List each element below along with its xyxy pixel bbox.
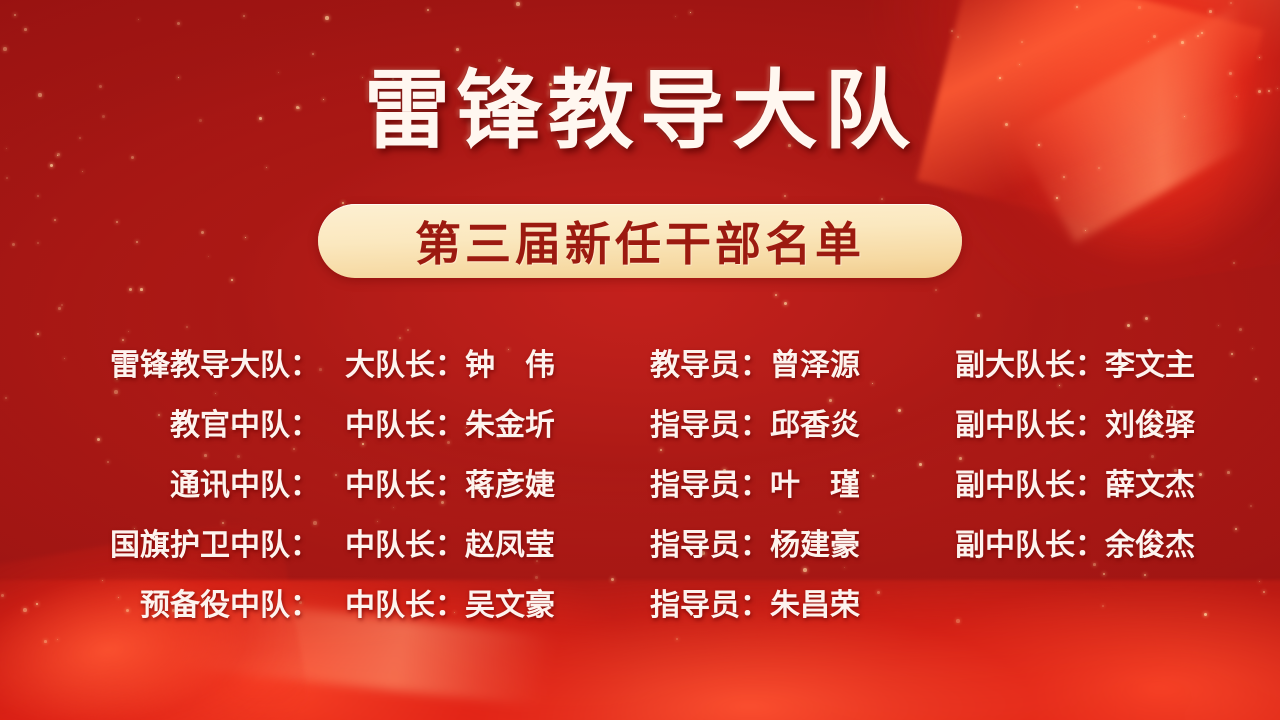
sparkle-dot	[6, 177, 8, 179]
roster-instructor: 指导员：叶 瑾	[645, 460, 950, 504]
sparkle-dot	[1145, 317, 1148, 320]
sparkle-dot	[37, 242, 39, 244]
roster-unit-name: 雷锋教导大队：	[0, 340, 320, 384]
roster-list: 雷锋教导大队：大队长：钟 伟教导员：曾泽源副大队长：李文主教官中队：中队长：朱金…	[0, 332, 1280, 632]
sparkle-dot	[54, 219, 56, 221]
sparkle-dot	[456, 48, 459, 51]
roster-row: 国旗护卫中队：中队长：赵凤莹指导员：杨建豪副中队长：余俊杰	[0, 512, 1280, 572]
subtitle-banner: 第三届新任干部名单	[318, 204, 962, 278]
sparkle-dot	[1127, 324, 1130, 327]
roster-vice-chief: 副中队长：余俊杰	[950, 520, 1275, 564]
roster-chief: 大队长：钟 伟	[320, 340, 645, 384]
sparkle-dot	[3, 47, 7, 51]
sparkle-dot	[136, 241, 138, 243]
roster-row: 教官中队：中队长：朱金圻指导员：邱香炎副中队长：刘俊驿	[0, 392, 1280, 452]
sparkle-dot	[138, 19, 139, 20]
sparkle-dot	[784, 302, 787, 305]
sparkle-dot	[342, 202, 344, 204]
sparkle-dot	[427, 9, 429, 11]
sparkle-dot	[243, 15, 245, 17]
roster-chief: 中队长：赵凤莹	[320, 520, 645, 564]
sparkle-dot	[37, 195, 39, 197]
sparkle-dot	[14, 14, 16, 16]
sparkle-dot	[231, 279, 233, 281]
sparkle-dot	[1218, 325, 1219, 326]
sparkle-dot	[312, 53, 314, 55]
roster-unit-name: 教官中队：	[0, 400, 320, 444]
sparkle-dot	[82, 171, 83, 172]
roster-vice-chief: 副中队长：薛文杰	[950, 460, 1275, 504]
subtitle-text: 第三届新任干部名单	[415, 208, 865, 274]
sparkle-dot	[116, 221, 118, 223]
sparkle-dot	[245, 237, 246, 238]
sparkle-dot	[140, 288, 143, 291]
sparkle-dot	[516, 2, 520, 6]
roster-unit-name: 国旗护卫中队：	[0, 520, 320, 564]
roster-unit-name: 预备役中队：	[0, 580, 320, 624]
roster-vice-chief: 副大队长：李文主	[950, 340, 1275, 384]
roster-chief: 中队长：吴文豪	[320, 580, 645, 624]
sparkle-dot	[775, 294, 777, 296]
sparkle-dot	[50, 164, 53, 167]
roster-instructor: 指导员：杨建豪	[645, 520, 950, 564]
sparkle-dot	[131, 156, 134, 159]
roster-instructor: 指导员：朱昌荣	[645, 580, 950, 624]
roster-instructor: 指导员：邱香炎	[645, 400, 950, 444]
sparkle-dot	[208, 256, 209, 257]
sparkle-dot	[325, 16, 329, 20]
sparkle-dot	[12, 243, 15, 246]
roster-unit-name: 通讯中队：	[0, 460, 320, 504]
sparkle-dot	[201, 231, 204, 234]
sparkle-dot	[407, 329, 409, 331]
sparkle-dot	[129, 288, 132, 291]
roster-chief: 中队长：蒋彦婕	[320, 460, 645, 504]
sparkle-dot	[690, 12, 691, 13]
roster-instructor: 教导员：曾泽源	[645, 340, 950, 384]
sparkle-dot	[1239, 328, 1242, 331]
sparkle-dot	[24, 28, 27, 31]
sparkle-dot	[177, 22, 180, 25]
roster-chief: 中队长：朱金圻	[320, 400, 645, 444]
roster-vice-chief: 副中队长：刘俊驿	[950, 400, 1275, 444]
sparkle-dot	[266, 167, 267, 168]
roster-row: 雷锋教导大队：大队长：钟 伟教导员：曾泽源副大队长：李文主	[0, 332, 1280, 392]
poster-canvas: 雷锋教导大队 第三届新任干部名单 雷锋教导大队：大队长：钟 伟教导员：曾泽源副大…	[0, 0, 1280, 720]
roster-row: 通讯中队：中队长：蒋彦婕指导员：叶 瑾副中队长：薛文杰	[0, 452, 1280, 512]
sparkle-dot	[784, 195, 786, 197]
page-title: 雷锋教导大队	[0, 66, 1280, 156]
sparkle-dot	[186, 326, 188, 328]
roster-row: 预备役中队：中队长：吴文豪指导员：朱昌荣	[0, 572, 1280, 632]
sparkle-dot	[977, 314, 980, 317]
sparkle-dot	[675, 16, 676, 17]
sparkle-dot	[61, 304, 63, 306]
sparkle-dot	[58, 307, 61, 310]
